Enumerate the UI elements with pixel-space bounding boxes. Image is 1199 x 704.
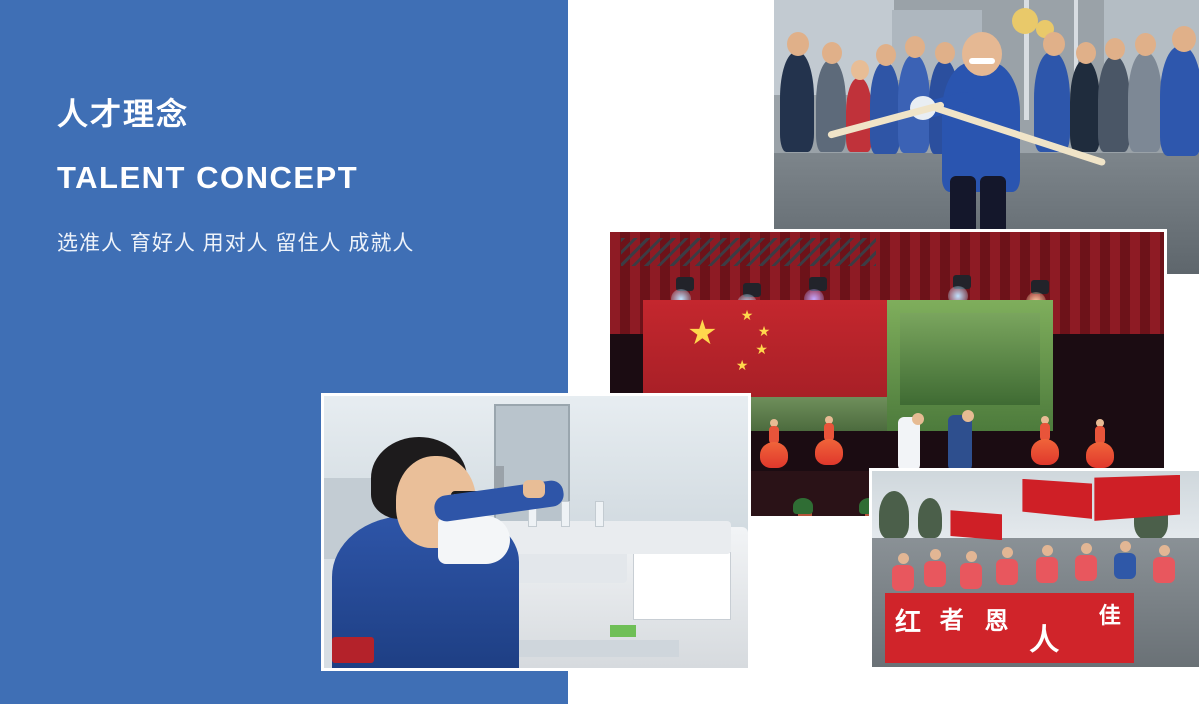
marathon-photo: 红 者 恩 人 佳	[869, 468, 1199, 670]
laboratory-photo	[321, 393, 751, 671]
spectator-head	[905, 36, 925, 58]
logo-patch	[332, 637, 374, 663]
dancer-skirt	[760, 442, 788, 468]
tree	[879, 491, 909, 539]
dancer-skirt	[1086, 442, 1114, 468]
runner-shirt	[1114, 553, 1136, 579]
runner-shirt	[960, 563, 982, 589]
plant	[793, 498, 813, 514]
worker-hand	[523, 480, 545, 498]
star-icon: ★	[755, 342, 768, 356]
page-title-cn: 人才理念	[57, 96, 527, 133]
spectator	[1160, 46, 1199, 156]
runner-shirt	[1075, 555, 1097, 581]
spectator-child	[846, 78, 872, 152]
banner-character: 者	[940, 600, 964, 635]
panel-text-block: 人才理念 TALENT CONCEPT 选准人 育好人 用对人 留住人 成就人	[57, 96, 527, 259]
leg	[950, 176, 976, 234]
spectator	[780, 52, 814, 152]
spectator	[1070, 60, 1100, 152]
star-icon: ★	[687, 316, 717, 350]
red-banner: 红 者 恩 人 佳	[885, 593, 1134, 664]
runner-shirt	[996, 559, 1018, 585]
spectator-head	[851, 60, 869, 80]
tree	[918, 498, 942, 538]
lab-background	[324, 396, 748, 668]
singer-blue	[948, 415, 972, 471]
street-lamp	[1012, 8, 1038, 34]
sample-tube	[595, 501, 604, 527]
runner-shirt	[924, 561, 946, 587]
runner-head	[898, 553, 909, 564]
sample-tube	[561, 501, 570, 527]
smile-shape	[969, 58, 995, 64]
spectator	[870, 62, 900, 154]
runner-head	[1081, 543, 1092, 554]
spectator-head	[876, 44, 896, 66]
spectator-head	[1076, 42, 1096, 64]
dancer-skirt	[1031, 439, 1059, 465]
banner-character: 佳	[1099, 598, 1121, 630]
status-indicator	[610, 625, 636, 637]
banner-character: 恩	[984, 601, 1008, 636]
marathon-background: 红 者 恩 人 佳	[872, 471, 1199, 667]
spectator-head	[1135, 33, 1156, 56]
spectator-head	[787, 32, 809, 56]
red-flag	[950, 510, 1002, 540]
spectator-head	[1105, 38, 1125, 60]
spectator-head	[935, 42, 955, 64]
star-icon: ★	[736, 358, 749, 372]
singer-head	[962, 410, 974, 422]
face-mask	[438, 516, 510, 564]
runner-head	[1042, 545, 1053, 556]
leg	[980, 176, 1006, 234]
runner-shirt	[1153, 557, 1175, 583]
spectator	[1098, 56, 1130, 152]
red-flag	[1094, 475, 1180, 521]
dancer-skirt	[815, 439, 843, 465]
star-icon: ★	[758, 324, 771, 338]
instrument-label	[633, 552, 731, 620]
runner-shirt	[892, 565, 914, 591]
spectator-head	[1172, 26, 1196, 52]
spectator-head	[822, 42, 842, 64]
spectator-head	[1043, 32, 1065, 56]
spectator	[1034, 52, 1070, 152]
page-subtitle: 选准人 育好人 用对人 留住人 成就人	[57, 229, 527, 258]
page-title-en: TALENT CONCEPT	[57, 161, 527, 195]
spectator	[1128, 52, 1162, 152]
singer-head	[912, 413, 924, 425]
runner-shirt	[1036, 557, 1058, 583]
sample-vial	[494, 466, 504, 488]
main-puller-head	[962, 32, 1002, 76]
lighting-truss	[621, 238, 876, 266]
banner-character: 红	[895, 602, 921, 639]
screen-foliage	[900, 313, 1040, 404]
slide-root: 人才理念 TALENT CONCEPT 选准人 育好人 用对人 留住人 成就人	[0, 0, 1199, 704]
star-icon: ★	[741, 308, 754, 322]
banner-character: 人	[1029, 615, 1059, 659]
